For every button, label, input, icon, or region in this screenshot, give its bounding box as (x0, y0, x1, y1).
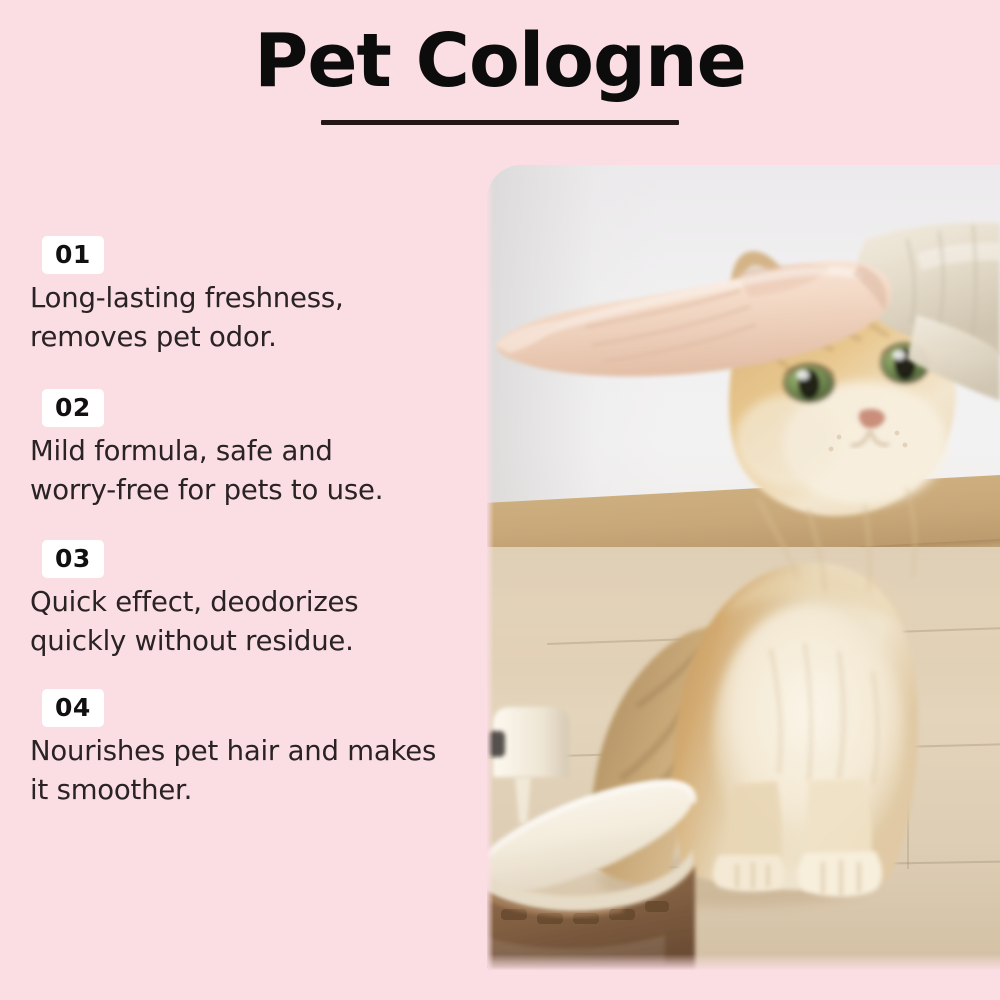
feature-text-01-line2: removes pet odor. (30, 318, 480, 357)
feature-text-04-line2: it smoother. (30, 771, 480, 810)
feature-text-02-line2: worry-free for pets to use. (30, 471, 480, 510)
feature-list: 01 Long-lasting freshness, removes pet o… (30, 236, 480, 810)
feature-item-02: 02 Mild formula, safe and worry-free for… (30, 389, 480, 510)
feature-number-badge-01: 01 (42, 236, 104, 274)
feature-text-04-line1: Nourishes pet hair and makes (30, 732, 480, 771)
feature-text-01: Long-lasting freshness, removes pet odor… (30, 279, 480, 357)
feature-text-03-line2: quickly without residue. (30, 622, 480, 661)
pet-water-fountain-illustration (487, 165, 1000, 970)
photo-left-fade (487, 165, 494, 970)
feature-text-03-line1: Quick effect, deodorizes (30, 583, 480, 622)
feature-text-03: Quick effect, deodorizes quickly without… (30, 583, 480, 661)
photo-bottom-fade (487, 954, 1000, 970)
photo-scene (487, 165, 1000, 970)
title-block: Pet Cologne (0, 24, 1000, 125)
feature-item-03: 03 Quick effect, deodorizes quickly with… (30, 540, 480, 661)
feature-item-01: 01 Long-lasting freshness, removes pet o… (30, 236, 480, 357)
pet-cologne-poster: Pet Cologne 01 Long-lasting freshness, r… (0, 0, 1000, 1000)
feature-number-badge-02: 02 (42, 389, 104, 427)
feature-text-02-line1: Mild formula, safe and (30, 432, 480, 471)
feature-text-01-line1: Long-lasting freshness, (30, 279, 480, 318)
feature-text-04: Nourishes pet hair and makes it smoother… (30, 732, 480, 810)
page-title: Pet Cologne (0, 24, 1000, 98)
feature-text-02: Mild formula, safe and worry-free for pe… (30, 432, 480, 510)
feature-item-04: 04 Nourishes pet hair and makes it smoot… (30, 689, 480, 810)
feature-number-badge-04: 04 (42, 689, 104, 727)
feature-number-badge-03: 03 (42, 540, 104, 578)
product-photo (487, 165, 1000, 970)
title-underline (321, 120, 679, 125)
